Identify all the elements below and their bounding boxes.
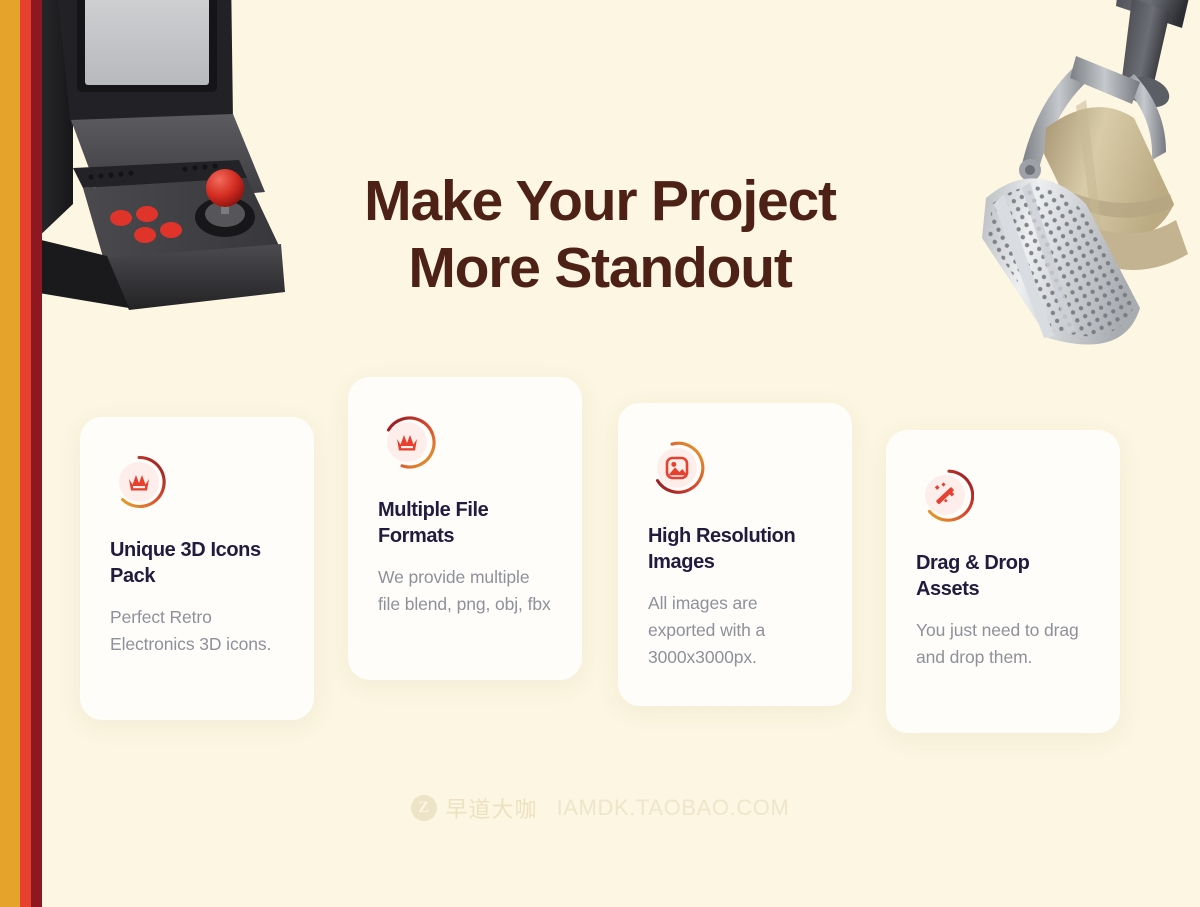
feature-card-description: Perfect Retro Electronics 3D icons. <box>110 604 284 658</box>
feature-card-description: All images are exported with a 3000x3000… <box>648 590 822 671</box>
brand-url: IAMDK.TAOBAO.COM <box>557 795 790 821</box>
left-color-stripes <box>0 0 42 907</box>
feature-card-title: Drag & Drop Assets <box>916 550 1090 603</box>
crown-icon <box>378 413 436 471</box>
feature-card-title: Unique 3D Icons Pack <box>110 537 284 590</box>
feature-cards-row: Unique 3D Icons Pack Perfect Retro Elect… <box>0 0 1200 907</box>
brand-name-cn: 早道大咖 <box>446 792 538 824</box>
brand-logo-icon: Z <box>411 795 437 821</box>
feature-card-title: Multiple File Formats <box>378 497 552 550</box>
magic-wand-icon <box>916 466 974 524</box>
crown-icon <box>110 453 168 511</box>
feature-card-description: You just need to drag and drop them. <box>916 617 1090 671</box>
image-icon <box>648 439 706 497</box>
feature-card-drag-and-drop-assets[interactable]: Drag & Drop Assets You just need to drag… <box>886 430 1120 733</box>
feature-card-unique-3d-icons-pack[interactable]: Unique 3D Icons Pack Perfect Retro Elect… <box>80 417 314 720</box>
stripe-maroon <box>31 0 42 907</box>
stripe-red <box>20 0 31 907</box>
feature-card-title: High Resolution Images <box>648 523 822 576</box>
feature-card-description: We provide multiple file blend, png, obj… <box>378 564 552 618</box>
stripe-gold <box>0 0 20 907</box>
feature-card-multiple-file-formats[interactable]: Multiple File Formats We provide multipl… <box>348 377 582 680</box>
feature-card-high-resolution-images[interactable]: High Resolution Images All images are ex… <box>618 403 852 706</box>
footer-watermark: Z 早道大咖 IAMDK.TAOBAO.COM <box>0 792 1200 824</box>
